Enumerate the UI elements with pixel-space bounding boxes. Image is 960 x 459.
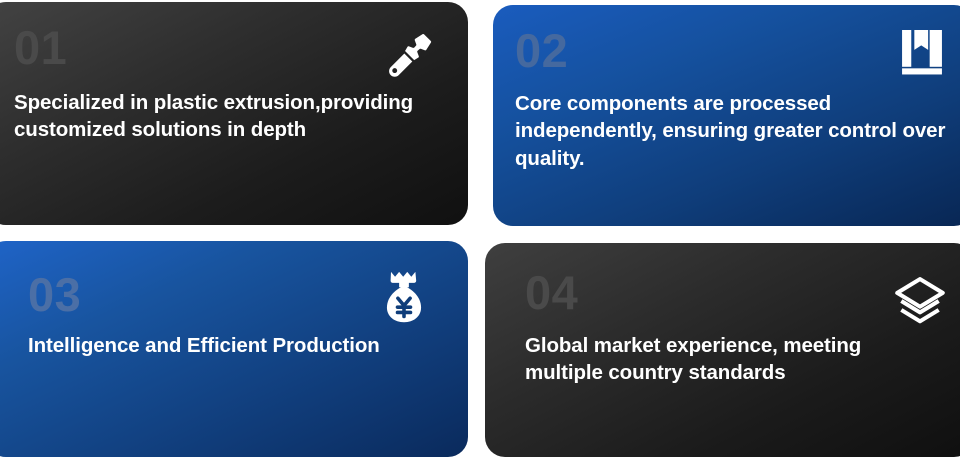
card-headline-04: Global market experience, meeting multip… [525,332,925,387]
wrench-icon [382,28,434,80]
feature-card-02[interactable]: 02 Core components are processed indepen… [493,5,960,226]
card-content-02: 02 Core components are processed indepen… [493,5,960,226]
layers-stack-icon [894,275,946,327]
card-content-03: 03 Intelligence and Efficient Production [0,241,468,457]
card-headline-01: Specialized in plastic extrusion,providi… [14,89,444,144]
feature-card-grid: 01 Specialized in plastic extrusion,prov… [0,0,960,459]
feature-card-04[interactable]: 04 Global market experience, meeting mul… [485,243,960,457]
feature-card-01[interactable]: 01 Specialized in plastic extrusion,prov… [0,2,468,225]
card-headline-02: Core components are processed independen… [515,90,950,172]
card-index-number-04: 04 [525,269,950,316]
card-index-number-02: 02 [515,27,950,74]
card-index-number-01: 01 [14,24,444,71]
card-content-01: 01 Specialized in plastic extrusion,prov… [0,2,468,225]
book-bookmark-icon [896,27,948,79]
card-headline-03: Intelligence and Efficient Production [28,332,444,359]
feature-card-03[interactable]: 03 Intelligence and Efficient Production [0,241,468,457]
card-content-04: 04 Global market experience, meeting mul… [485,243,960,457]
money-bag-yen-icon [378,271,430,323]
